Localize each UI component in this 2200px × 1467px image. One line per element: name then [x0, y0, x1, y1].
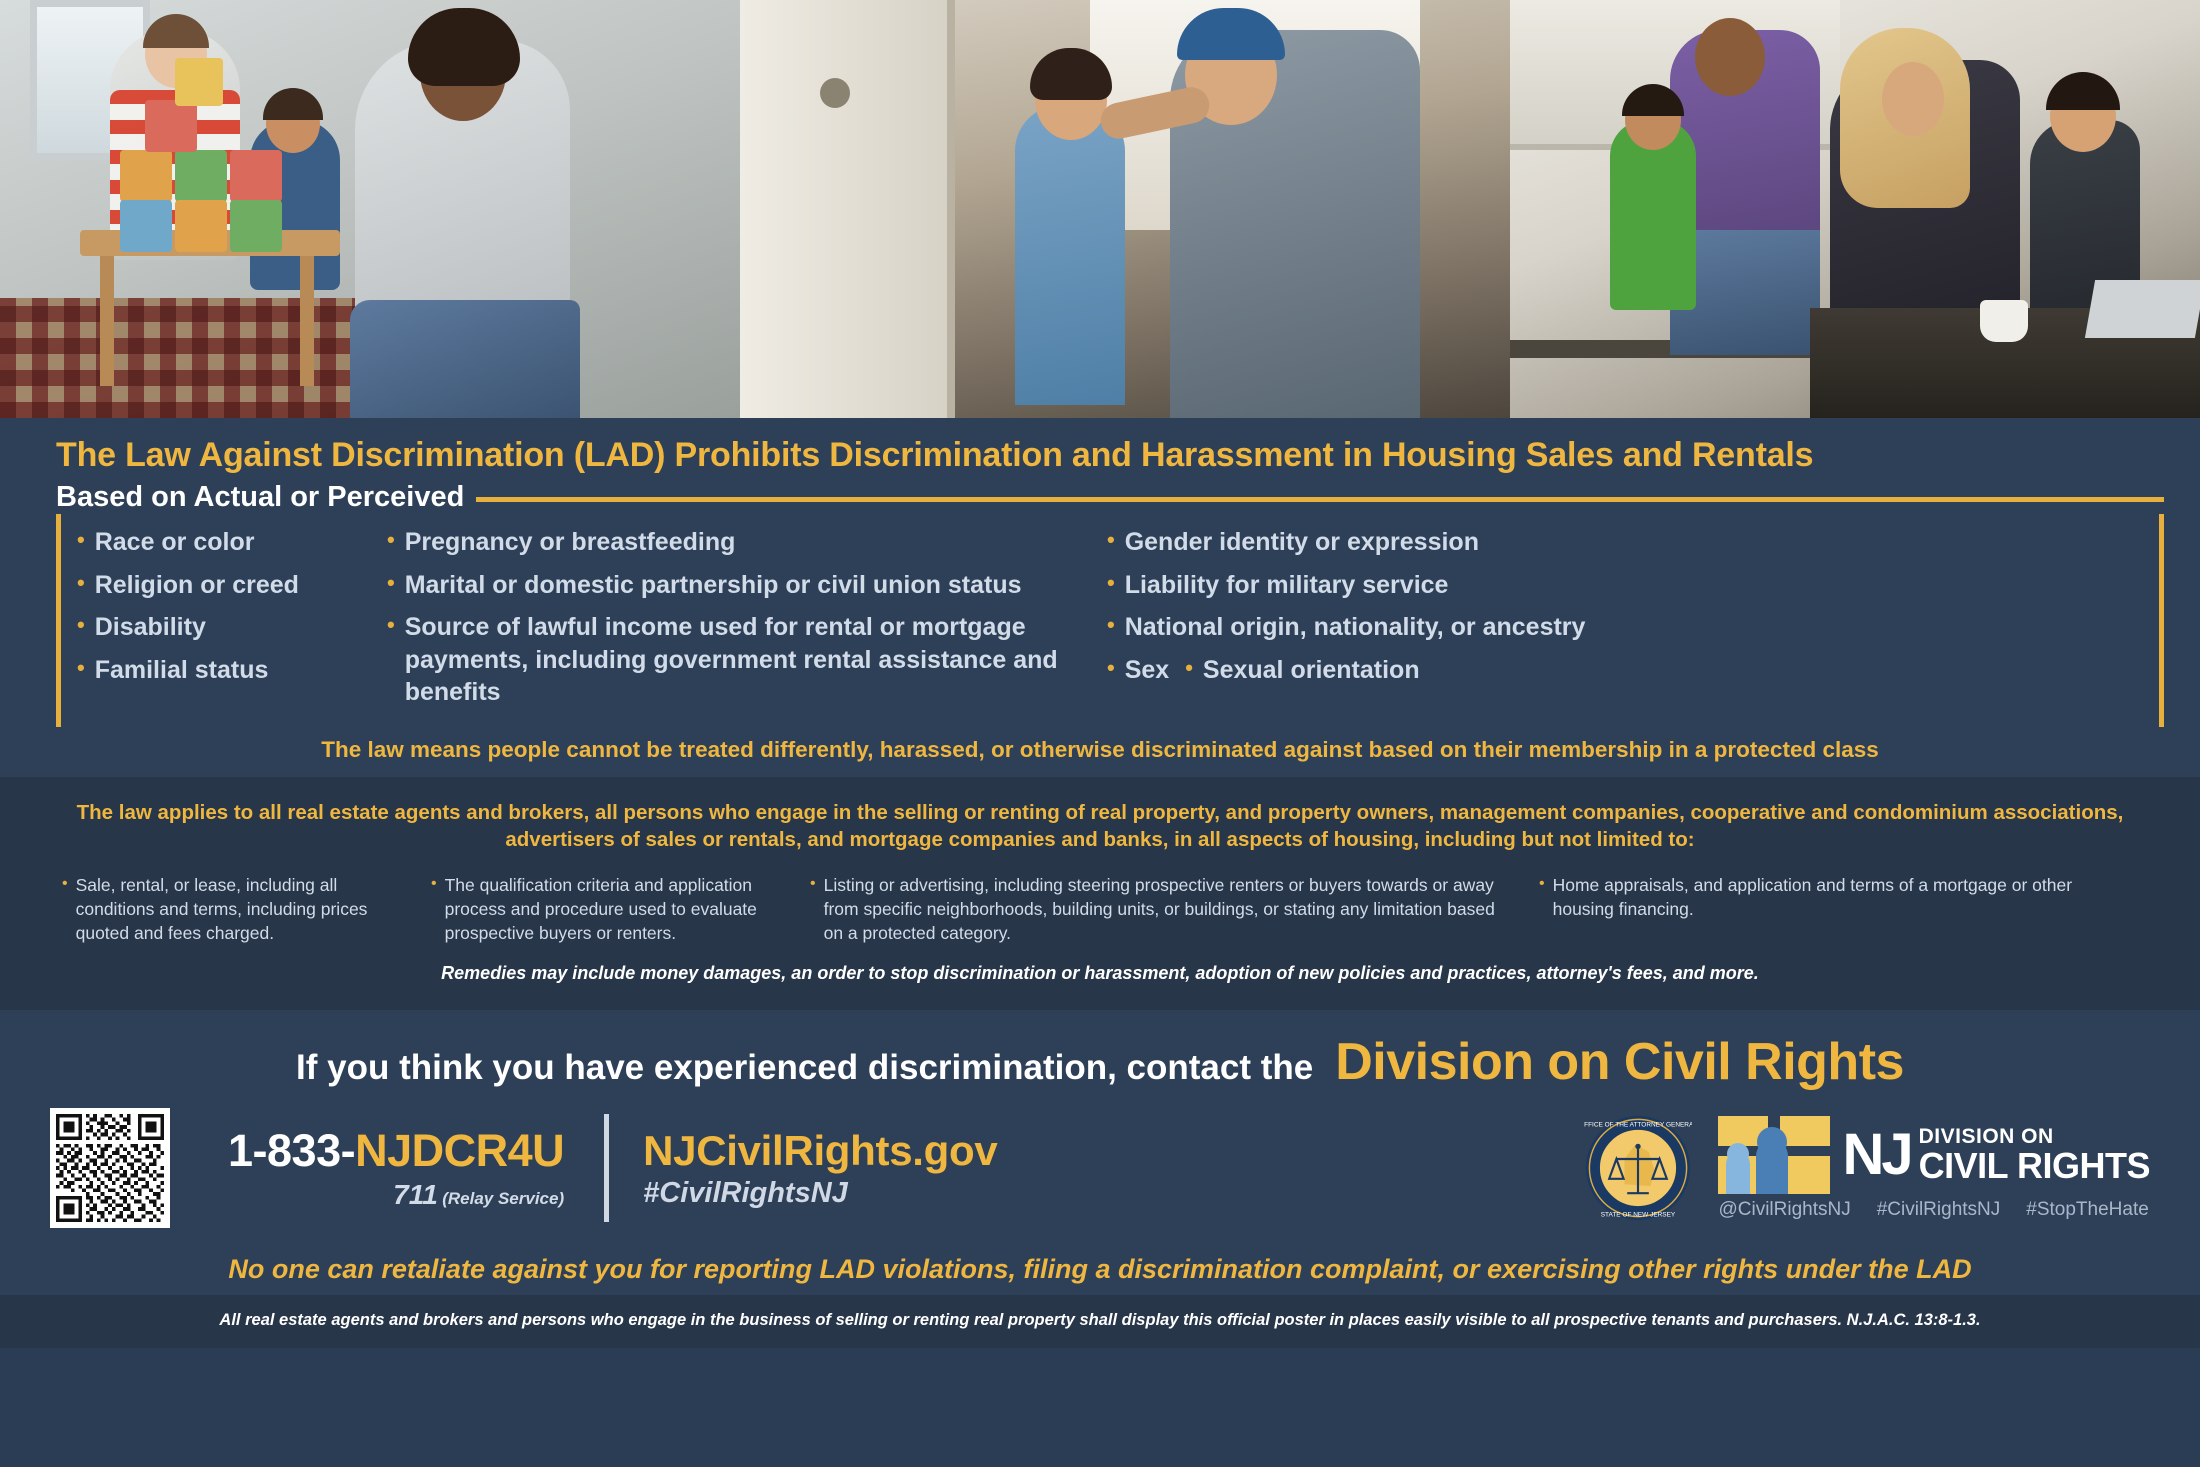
block-toy — [230, 150, 282, 202]
woman-face-shape — [1882, 62, 1944, 136]
dcr-logo-block: NJ DIVISION ON CIVIL RIGHTS @CivilRights… — [1718, 1116, 2150, 1221]
photo-family-blocks — [0, 0, 740, 418]
class-item: • Disability — [61, 611, 371, 644]
vertical-divider — [604, 1114, 609, 1222]
seal-bottom-text: STATE OF NEW JERSEY — [1601, 1212, 1676, 1219]
bullet-icon: • — [387, 569, 395, 597]
social-handles: @CivilRightsNJ #CivilRightsNJ #StopTheHa… — [1718, 1199, 2150, 1221]
laptop-shape — [2085, 280, 2200, 338]
contact-band: If you think you have experienced discri… — [0, 1010, 2200, 1242]
rug-shape — [0, 298, 400, 418]
aspect-item: • The qualification criteria and applica… — [431, 873, 786, 945]
dcr-line-2: CIVIL RIGHTS — [1919, 1148, 2150, 1184]
table-leg-shape — [100, 256, 114, 386]
title-and-classes-band: The Law Against Discrimination (LAD) Pro… — [0, 418, 2200, 777]
bullet-icon: • — [1107, 654, 1115, 682]
door-shape — [740, 0, 955, 418]
social-handle[interactable]: #CivilRightsNJ — [1877, 1199, 2001, 1221]
subtitle-row: Based on Actual or Perceived — [0, 475, 2200, 514]
bullet-icon: • — [77, 611, 85, 639]
block-toy — [175, 150, 227, 202]
adult-head-shape — [1695, 18, 1765, 96]
attorney-general-seal: OFFICE OF THE ATTORNEY GENERAL STATE OF … — [1584, 1114, 1692, 1222]
class-item: • Liability for military service — [1091, 569, 2159, 602]
contact-headline: If you think you have experienced discri… — [0, 1032, 2200, 1092]
classes-column-2: • Pregnancy or breastfeeding • Marital o… — [371, 526, 1091, 719]
lad-housing-poster: The Law Against Discrimination (LAD) Pro… — [0, 0, 2200, 1467]
bullet-icon: • — [77, 569, 85, 597]
aspect-item: • Listing or advertising, including stee… — [810, 873, 1515, 945]
division-name: Division on Civil Rights — [1335, 1032, 1904, 1092]
website-block[interactable]: NJCivilRights.gov #CivilRightsNJ — [643, 1127, 997, 1210]
social-handle[interactable]: #StopTheHate — [2026, 1199, 2149, 1221]
phone-block[interactable]: 1-833-NJDCR4U 711 (Relay Service) — [228, 1125, 564, 1211]
bullet-icon: • — [1185, 654, 1193, 682]
class-item: • Gender identity or expression — [1091, 526, 2159, 559]
bullet-icon: • — [77, 526, 85, 554]
footer-note: All real estate agents and brokers and p… — [30, 1311, 2170, 1330]
block-toy — [175, 200, 227, 252]
gold-border-right — [2159, 514, 2164, 727]
hashtag: #CivilRightsNJ — [643, 1177, 997, 1210]
doorknob-shape — [820, 78, 850, 108]
relay-number: 711 — [393, 1179, 438, 1210]
block-toy — [120, 150, 172, 202]
means-statement: The law means people cannot be treated d… — [0, 727, 2200, 777]
aspects-columns: • Sale, rental, or lease, including all … — [44, 853, 2156, 951]
contact-info-row: 1-833-NJDCR4U 711 (Relay Service) NJCivi… — [0, 1092, 2200, 1232]
retaliation-band: No one can retaliate against you for rep… — [0, 1242, 2200, 1295]
relay-service: 711 (Relay Service) — [228, 1179, 564, 1211]
retaliation-statement: No one can retaliate against you for rep… — [30, 1254, 2170, 1285]
dcr-logo-row: NJ DIVISION ON CIVIL RIGHTS — [1718, 1116, 2150, 1194]
classes-column-3: • Gender identity or expression • Liabil… — [1091, 526, 2159, 719]
cup-shape — [1980, 300, 2028, 342]
bullet-icon: • — [1539, 873, 1545, 945]
phone-suffix: NJDCR4U — [355, 1125, 564, 1176]
class-item: • Religion or creed — [61, 569, 371, 602]
dcr-line-1: DIVISION ON — [1919, 1126, 2150, 1147]
photo-father-daughter — [740, 0, 1510, 418]
relay-label: (Relay Service) — [442, 1189, 564, 1208]
bullet-icon: • — [431, 873, 437, 945]
block-toy — [175, 58, 223, 106]
bullet-icon: • — [1107, 611, 1115, 639]
qr-code[interactable] — [50, 1108, 170, 1228]
bullet-icon: • — [810, 873, 816, 945]
class-item: • Race or color — [61, 526, 371, 559]
phone-number[interactable]: 1-833-NJDCR4U — [228, 1125, 564, 1177]
seal-top-text: OFFICE OF THE ATTORNEY GENERAL — [1584, 1122, 1692, 1129]
aspect-item: • Sale, rental, or lease, including all … — [62, 873, 407, 945]
dcr-logo-mark-icon — [1718, 1116, 1830, 1194]
protected-classes-box: • Race or color • Religion or creed • Di… — [0, 514, 2200, 727]
photo-strip — [0, 0, 2200, 418]
footer-band: All real estate agents and brokers and p… — [0, 1295, 2200, 1348]
bullet-icon: • — [387, 611, 395, 639]
subtitle: Based on Actual or Perceived — [56, 481, 464, 514]
bullet-icon: • — [1107, 526, 1115, 554]
block-toy — [145, 100, 197, 152]
contact-lead-text: If you think you have experienced discri… — [296, 1048, 1313, 1088]
class-item: • Source of lawful income used for renta… — [371, 611, 1091, 709]
remedies-statement: Remedies may include money damages, an o… — [44, 951, 2156, 998]
aspect-item: • Home appraisals, and application and t… — [1539, 873, 2138, 945]
bullet-icon: • — [1107, 569, 1115, 597]
jeans-shape — [350, 300, 580, 418]
classes-column-1: • Race or color • Religion or creed • Di… — [61, 526, 371, 719]
website-url[interactable]: NJCivilRights.gov — [643, 1127, 997, 1175]
bullet-icon: • — [77, 654, 85, 682]
class-item: • National origin, nationality, or ances… — [1091, 611, 2159, 644]
bullet-icon: • — [62, 873, 68, 945]
photo-kitchen-family — [1510, 0, 2200, 418]
class-item: • Sex — [1091, 654, 1169, 687]
protected-classes-columns: • Race or color • Religion or creed • Di… — [61, 514, 2159, 727]
nj-wordmark: NJ — [1842, 1129, 1910, 1181]
class-item: • Pregnancy or breastfeeding — [371, 526, 1091, 559]
class-item-row: • Sex • Sexual orientation — [1091, 654, 2159, 697]
phone-prefix: 1-833- — [228, 1125, 355, 1176]
block-toy — [120, 200, 172, 252]
bullet-icon: • — [387, 526, 395, 554]
applies-statement: The law applies to all real estate agent… — [44, 799, 2156, 853]
dcr-wordmark: DIVISION ON CIVIL RIGHTS — [1919, 1126, 2150, 1184]
gold-rule — [476, 497, 2164, 502]
page-title: The Law Against Discrimination (LAD) Pro… — [0, 418, 2200, 475]
applies-to-band: The law applies to all real estate agent… — [0, 777, 2200, 1011]
table-leg-shape — [300, 256, 314, 386]
social-handle[interactable]: @CivilRightsNJ — [1718, 1199, 1850, 1221]
daughter-figure — [1015, 105, 1125, 405]
class-item: • Sexual orientation — [1169, 654, 1419, 687]
class-item: • Familial status — [61, 654, 371, 687]
block-toy — [230, 200, 282, 252]
class-item: • Marital or domestic partnership or civ… — [371, 569, 1091, 602]
